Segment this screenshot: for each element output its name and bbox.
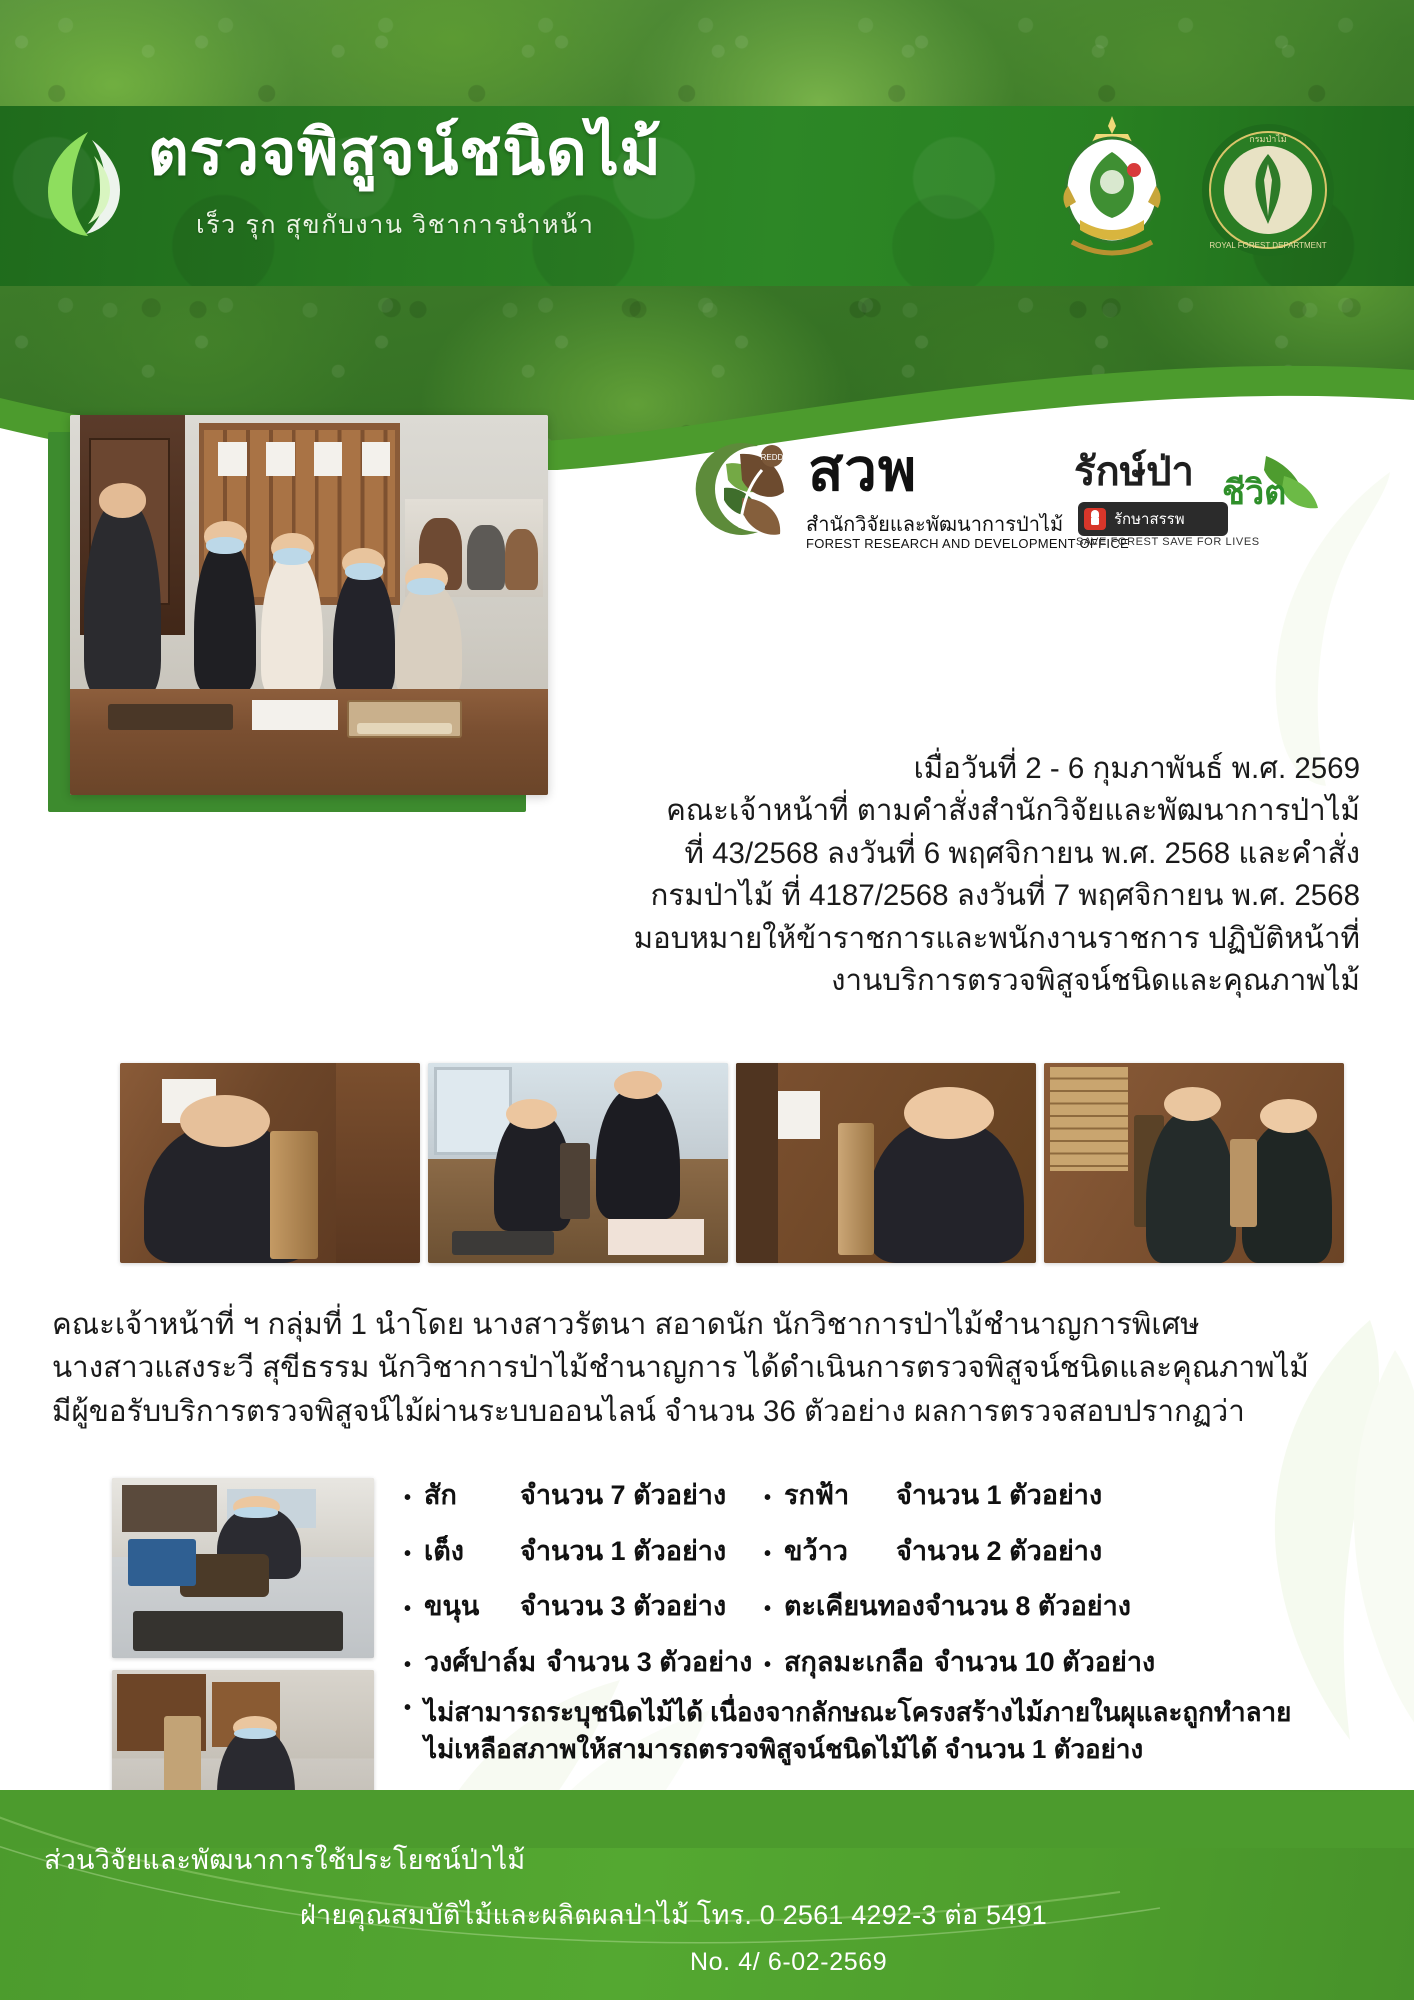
species-count: จำนวน 3 ตัวอย่าง — [546, 1645, 752, 1681]
suwaphor-acronym: สวพ — [808, 442, 917, 500]
intro-line-5: มอบหมายให้ข้าราชการและพนักงานราชการ ปฏิบ… — [560, 918, 1360, 960]
species-count: จำนวน 1 ตัวอย่าง — [520, 1534, 726, 1570]
list-item: • ขว้าว จำนวน 2 ตัวอย่าง — [764, 1534, 1324, 1570]
poster-root: ตรวจพิสูจน์ชนิดไม้ เร็ว รุก สุขกับงาน วิ… — [0, 0, 1414, 2000]
bullet-dot-icon: • — [764, 1542, 784, 1566]
photo-strip-item-2 — [428, 1063, 728, 1263]
svg-text:REDD: REDD — [761, 453, 784, 462]
bullet-dot-icon: • — [404, 1486, 424, 1510]
rakpa-logo: รักษาสรรพ รักษ์ป่า ชีวิต SAVE FOREST SAV… — [1070, 450, 1330, 550]
bullet-dot-icon: • — [404, 1542, 424, 1566]
species-col-left: • สัก จำนวน 7 ตัวอย่าง — [404, 1478, 764, 1514]
photo-main-inspection-room — [70, 415, 548, 795]
note-line-2: ไม่เหลือสภาพให้สามารถตรวจพิสูจน์ชนิดไม้ไ… — [424, 1731, 1291, 1768]
body-paragraph: คณะเจ้าหน้าที่ ฯ กลุ่มที่ 1 นำโดย นางสาว… — [52, 1303, 1370, 1433]
species-name: ขว้าว — [784, 1534, 896, 1570]
photo-strip-item-3 — [736, 1063, 1036, 1263]
body-line-3: มีผู้ขอรับบริการตรวจพิสูจน์ไม้ผ่านระบบออ… — [52, 1390, 1370, 1433]
bullet-dot-icon: • — [404, 1696, 424, 1720]
rakpa-line2: ชีวิต — [1222, 476, 1286, 510]
species-row: • วงศ์ปาล์ม จำนวน 3 ตัวอย่าง • สกุลมะเกล… — [404, 1645, 1374, 1681]
poster-content: REDD สวพ สำนักวิจัยและพัฒนาการป่าไม้ FOR… — [0, 0, 1414, 2000]
species-col-left: • วงศ์ปาล์ม จำนวน 3 ตัวอย่าง — [404, 1645, 764, 1681]
species-col-right: • ขว้าว จำนวน 2 ตัวอย่าง — [764, 1534, 1324, 1570]
list-item: • วงศ์ปาล์ม จำนวน 3 ตัวอย่าง — [404, 1645, 764, 1681]
species-name: รกฟ้า — [784, 1478, 896, 1514]
species-row: • ขนุน จำนวน 3 ตัวอย่าง • ตะเคียนทอง จำน… — [404, 1589, 1374, 1625]
rakpa-line3-text: รักษาสรรพ — [1114, 511, 1185, 528]
footer-division-name: ส่วนวิจัยและพัฒนาการใช้ประโยชน์ป่าไม้ — [44, 1838, 525, 1881]
rakpa-tagline: SAVE FOREST SAVE FOR LIVES — [1076, 536, 1260, 548]
list-item: • ตะเคียนทอง จำนวน 8 ตัวอย่าง — [764, 1589, 1324, 1625]
body-line-2: นางสาวแสงระวี สุขีธรรม นักวิชาการป่าไม้ช… — [52, 1346, 1370, 1389]
species-col-left: • เต็ง จำนวน 1 ตัวอย่าง — [404, 1534, 764, 1570]
bullet-dot-icon: • — [764, 1597, 784, 1621]
suwaphor-logo: REDD สวพ สำนักวิจัยและพัฒนาการป่าไม้ FOR… — [680, 440, 1020, 562]
footer: ส่วนวิจัยและพัฒนาการใช้ประโยชน์ป่าไม้ ฝ่… — [0, 1790, 1414, 2000]
species-count: จำนวน 1 ตัวอย่าง — [896, 1478, 1102, 1514]
species-col-right: • สกุลมะเกลือ จำนวน 10 ตัวอย่าง — [764, 1645, 1324, 1681]
species-name: วงศ์ปาล์ม — [424, 1645, 536, 1681]
body-line-1: คณะเจ้าหน้าที่ ฯ กลุ่มที่ 1 นำโดย นางสาว… — [52, 1303, 1370, 1346]
list-item: • ขนุน จำนวน 3 ตัวอย่าง — [404, 1589, 764, 1625]
bullet-dot-icon: • — [404, 1597, 424, 1621]
species-count: จำนวน 3 ตัวอย่าง — [520, 1589, 726, 1625]
photo-strip — [0, 1063, 1414, 1278]
species-results-list: • สัก จำนวน 7 ตัวอย่าง • รกฟ้า จำนวน 1 ต… — [404, 1478, 1374, 1701]
species-name: ตะเคียนทอง — [784, 1589, 925, 1625]
list-item: • รกฟ้า จำนวน 1 ตัวอย่าง — [764, 1478, 1324, 1514]
rakpa-line1: รักษ์ป่า — [1074, 452, 1194, 492]
footer-doc-number: No. 4/ 6-02-2569 — [690, 1948, 887, 1977]
photo-strip-item-1 — [120, 1063, 420, 1263]
intro-line-6: งานบริการตรวจพิสูจน์ชนิดและคุณภาพไม้ — [560, 960, 1360, 1002]
species-col-right: • ตะเคียนทอง จำนวน 8 ตัวอย่าง — [764, 1589, 1324, 1625]
bullet-dot-icon: • — [764, 1486, 784, 1510]
note-line-1: ไม่สามารถระบุชนิดไม้ได้ เนื่องจากลักษณะโ… — [424, 1694, 1291, 1731]
species-row: • สัก จำนวน 7 ตัวอย่าง • รกฟ้า จำนวน 1 ต… — [404, 1478, 1374, 1514]
list-item: • เต็ง จำนวน 1 ตัวอย่าง — [404, 1534, 764, 1570]
species-count: จำนวน 10 ตัวอย่าง — [934, 1645, 1155, 1681]
footer-contact: ฝ่ายคุณสมบัติไม้และผลิตผลป่าไม้ โทร. 0 2… — [300, 1893, 1047, 1936]
species-col-right: • รกฟ้า จำนวน 1 ตัวอย่าง — [764, 1478, 1324, 1514]
species-count: จำนวน 8 ตัวอย่าง — [925, 1589, 1131, 1625]
species-name: สกุลมะเกลือ — [784, 1645, 924, 1681]
unidentified-note: • ไม่สามารถระบุชนิดไม้ได้ เนื่องจากลักษณ… — [404, 1694, 1394, 1768]
species-row: • เต็ง จำนวน 1 ตัวอย่าง • ขว้าว จำนวน 2 … — [404, 1534, 1374, 1570]
species-count: จำนวน 7 ตัวอย่าง — [520, 1478, 726, 1514]
photo-strip-item-4 — [1044, 1063, 1344, 1263]
bullet-dot-icon: • — [764, 1653, 784, 1677]
intro-line-4: กรมป่าไม้ ที่ 4187/2568 ลงวันที่ 7 พฤศจิ… — [560, 875, 1360, 917]
logo-row: REDD สวพ สำนักวิจัยและพัฒนาการป่าไม้ FOR… — [640, 440, 1340, 570]
intro-line-1: เมื่อวันที่ 2 - 6 กุมภาพันธ์ พ.ศ. 2569 — [560, 748, 1360, 790]
photo-results-1 — [112, 1478, 374, 1658]
intro-paragraph: เมื่อวันที่ 2 - 6 กุมภาพันธ์ พ.ศ. 2569 ค… — [560, 748, 1360, 1003]
intro-line-2: คณะเจ้าหน้าที่ ตามคำสั่งสำนักวิจัยและพัฒ… — [560, 790, 1360, 832]
species-name: ขนุน — [424, 1589, 520, 1625]
species-col-left: • ขนุน จำนวน 3 ตัวอย่าง — [404, 1589, 764, 1625]
list-item: • สัก จำนวน 7 ตัวอย่าง — [404, 1478, 764, 1514]
list-item: • สกุลมะเกลือ จำนวน 10 ตัวอย่าง — [764, 1645, 1324, 1681]
intro-line-3: ที่ 43/2568 ลงวันที่ 6 พฤศจิกายน พ.ศ. 25… — [560, 833, 1360, 875]
bullet-dot-icon: • — [404, 1653, 424, 1677]
species-count: จำนวน 2 ตัวอย่าง — [896, 1534, 1102, 1570]
species-name: เต็ง — [424, 1534, 520, 1570]
species-name: สัก — [424, 1478, 520, 1514]
